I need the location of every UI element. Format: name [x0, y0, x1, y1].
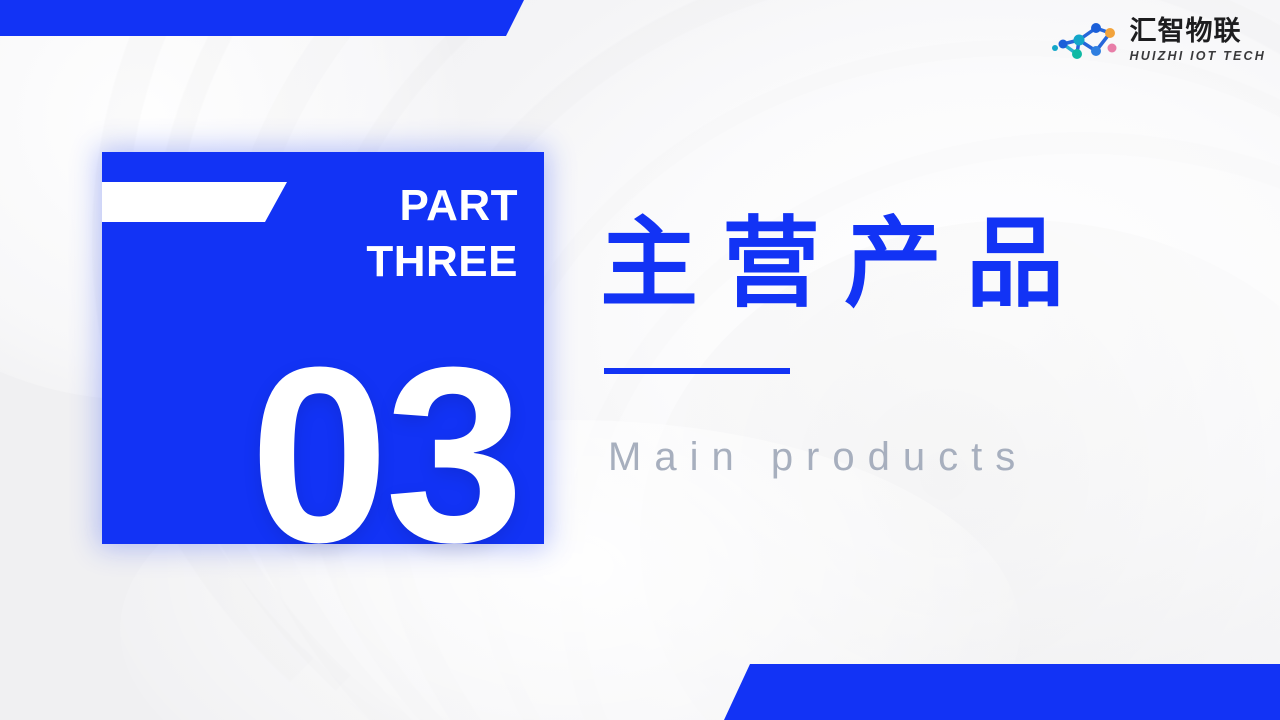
- part-label-word: PART: [258, 178, 518, 234]
- bottom-right-blue-bar: [724, 664, 1280, 720]
- logo-company-name-en: HUIZHI IOT TECH: [1130, 50, 1266, 63]
- slide-canvas: PART THREE 03 主营产品 Main products: [0, 0, 1280, 720]
- company-logo: 汇智物联 HUIZHI IOT TECH: [1048, 18, 1266, 63]
- part-label-ordinal: THREE: [258, 234, 518, 290]
- logo-text-block: 汇智物联 HUIZHI IOT TECH: [1130, 18, 1266, 63]
- molecule-network-icon: [1048, 18, 1122, 62]
- page-subtitle: Main products: [608, 430, 1028, 484]
- top-left-blue-bar: [0, 0, 524, 36]
- part-number: 03: [102, 330, 520, 580]
- title-underline-rule: [604, 368, 790, 374]
- part-label: PART THREE: [258, 178, 518, 290]
- logo-company-name-cn: 汇智物联: [1130, 18, 1266, 45]
- part-section-card: PART THREE 03: [102, 152, 544, 544]
- page-title: 主营产品: [600, 208, 1088, 320]
